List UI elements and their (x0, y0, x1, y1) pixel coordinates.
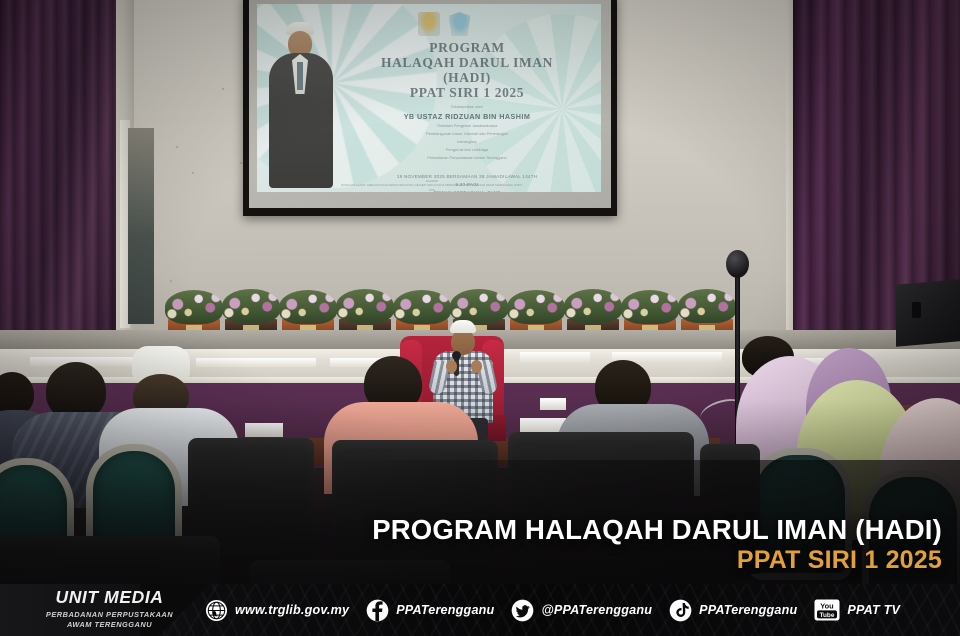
slide-title-line3: (HADI) (341, 70, 593, 85)
slide-speaker-role-4: Pengerusi Ahli Lembaga (341, 147, 593, 153)
doorway (128, 128, 154, 324)
slide-logos (409, 12, 479, 38)
slide-footer-credits: ANJURAN BAHAGIAN AGAMA, KEBAJIKAN DAN KE… (317, 180, 547, 192)
wall-mark (192, 172, 194, 174)
facebook-icon (366, 599, 389, 622)
slide-presented-by-label: Disampaikan oleh (341, 105, 593, 109)
slide-text-block: PROGRAM HALAQAH DARUL IMAN (HADI) PPAT S… (341, 40, 593, 192)
slide-speaker-role-1: Timbalan Pengerusi Jawatankuasa (341, 123, 593, 129)
slide-footer-line2: DAN (317, 189, 547, 192)
slide-photo-tie (297, 62, 303, 90)
social-facebook-label: PPATerengganu (396, 603, 494, 617)
social-facebook[interactable]: PPATerengganu (366, 599, 494, 622)
tiktok-icon (669, 599, 692, 622)
stage-table-card (245, 423, 283, 437)
globe-icon (205, 599, 228, 622)
overlay-title-line1: PROGRAM HALAQAH DARUL IMAN (HADI) (372, 516, 942, 544)
overlay-title-line2: PPAT SIRI 1 2025 (372, 547, 942, 573)
projector-screen: PROGRAM HALAQAH DARUL IMAN (HADI) PPAT S… (249, 0, 611, 208)
wall-mark (222, 88, 224, 90)
wall-mark (176, 146, 178, 148)
social-twitter-label: @PPATerengganu (541, 603, 652, 617)
stage-curtain-left (0, 0, 116, 330)
slide-title-line1: PROGRAM (341, 40, 593, 55)
unit-media-sub-line1: PERBADANAN PERPUSTAKAAN (24, 610, 195, 621)
social-youtube-label: PPAT TV (847, 603, 900, 617)
wall-mark (170, 280, 172, 282)
social-tiktok-label: PPATerengganu (699, 603, 797, 617)
pa-speaker-box (896, 279, 960, 347)
social-links: www.trglib.gov.my PPATerengganu @PPATere… (205, 599, 900, 622)
event-photo-screenshot: PROGRAM HALAQAH DARUL IMAN (HADI) PPAT S… (0, 0, 960, 636)
svg-text:You: You (821, 601, 835, 610)
stage-table-card (540, 398, 566, 410)
social-website[interactable]: www.trglib.gov.my (205, 599, 349, 622)
social-tiktok[interactable]: PPATerengganu (669, 599, 797, 622)
slide-speaker-photo (265, 20, 339, 188)
footer-bar: UNIT MEDIA PERBADANAN PERPUSTAKAAN AWAM … (0, 584, 960, 636)
unit-media-sub-line2: AWAM TERENGGANU (24, 620, 195, 631)
unit-media-logo: UNIT MEDIA PERBADANAN PERPUSTAKAAN AWAM … (0, 589, 195, 631)
social-youtube[interactable]: You Tube PPAT TV (814, 599, 900, 621)
youtube-icon: You Tube (814, 599, 840, 621)
slide-speaker-role-2: Pembangunan Insan, Dakwah dan Penerangan (341, 131, 593, 137)
wall-mark (240, 162, 242, 164)
speaker-kopiah-icon (450, 320, 476, 333)
slide-title-line4: PPAT SIRI 1 2025 (341, 85, 593, 100)
state-crest-icon (418, 12, 440, 36)
slide-speaker-role-3: merangkap (341, 139, 593, 145)
library-shield-icon (449, 12, 471, 36)
svg-text:Tube: Tube (820, 612, 835, 619)
pa-speaker-port (912, 302, 921, 318)
social-twitter[interactable]: @PPATerengganu (511, 599, 652, 622)
twitter-icon (511, 599, 534, 622)
slide-speaker-role-5: Perbadanan Perpustakaan Awam Terengganu (341, 155, 593, 161)
overlay-title-block: PROGRAM HALAQAH DARUL IMAN (HADI) PPAT S… (372, 516, 942, 573)
microphone-windscreen (726, 250, 749, 278)
unit-media-title: UNIT MEDIA (24, 589, 195, 607)
presentation-slide: PROGRAM HALAQAH DARUL IMAN (HADI) PPAT S… (257, 4, 601, 192)
slide-speaker-name: YB USTAZ RIDZUAN BIN HASHIM (341, 112, 593, 121)
social-website-label: www.trglib.gov.my (235, 603, 349, 617)
slide-title-line2: HALAQAH DARUL IMAN (341, 55, 593, 70)
